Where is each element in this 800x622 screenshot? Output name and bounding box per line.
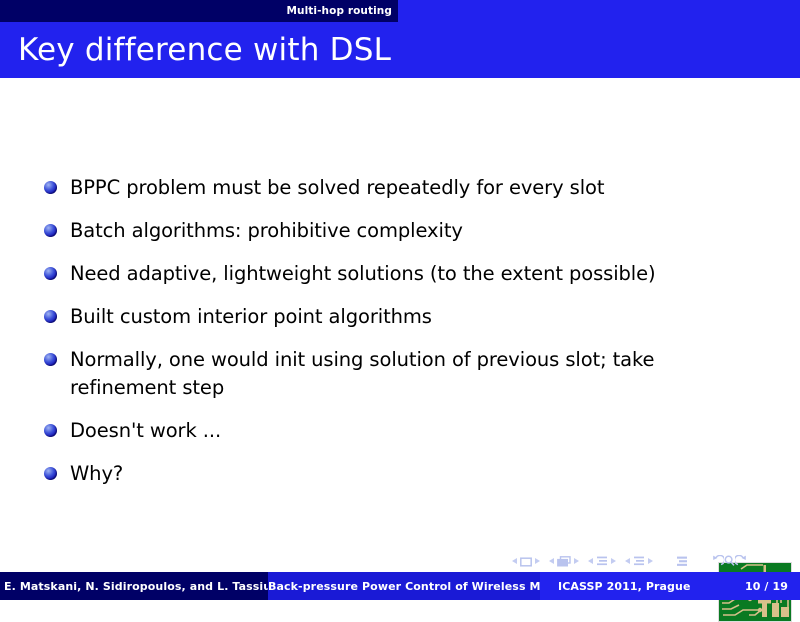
nav-group-subsection[interactable]: [588, 552, 616, 571]
footer-bar: E. Matskani, N. Sidiropoulos, and L. Tas…: [0, 572, 800, 600]
nav-group-slide[interactable]: [512, 552, 540, 571]
footer-title-label: Back-pressure Power Control of Wireless …: [268, 580, 540, 593]
footer-meta-segment[interactable]: ICASSP 2011, Prague 10 / 19: [540, 572, 800, 600]
next-frame-icon[interactable]: [574, 558, 579, 564]
back-icon[interactable]: [711, 552, 724, 571]
list-item-label: Need adaptive, lightweight solutions (to…: [70, 260, 724, 288]
list-item: Why?: [44, 460, 724, 488]
list-item-label: Built custom interior point algorithms: [70, 303, 724, 331]
next-section-icon[interactable]: [648, 558, 653, 564]
headline-bar: Multi-hop routing: [0, 0, 800, 22]
list-item-label: Why?: [70, 460, 724, 488]
forward-icon[interactable]: [735, 552, 748, 571]
nav-group-frame[interactable]: [549, 552, 579, 571]
slide-icon[interactable]: [520, 552, 532, 571]
title-band: Key difference with DSL: [0, 22, 800, 78]
list-item: Built custom interior point algorithms: [44, 303, 724, 331]
list-item: BPPC problem must be solved repeatedly f…: [44, 174, 724, 202]
slide-body: BPPC problem must be solved repeatedly f…: [0, 78, 800, 550]
bullet-sphere-icon: [44, 353, 57, 366]
next-slide-icon[interactable]: [535, 558, 540, 564]
footer-page-number: 10 / 19: [745, 580, 792, 593]
bullet-sphere-icon: [44, 467, 57, 480]
nav-group-section[interactable]: [625, 552, 653, 571]
subsection-icon[interactable]: [596, 552, 608, 571]
prev-slide-icon[interactable]: [512, 558, 517, 564]
footer-author-segment[interactable]: E. Matskani, N. Sidiropoulos, and L. Tas…: [0, 572, 268, 600]
nav-group-history[interactable]: [711, 552, 748, 571]
prev-frame-icon[interactable]: [549, 558, 554, 564]
list-item-label: Batch algorithms: prohibitive complexity: [70, 217, 724, 245]
bullet-sphere-icon: [44, 267, 57, 280]
list-item-label: Doesn't work ...: [70, 417, 724, 445]
bullet-sphere-icon: [44, 310, 57, 323]
list-item-label: BPPC problem must be solved repeatedly f…: [70, 174, 724, 202]
frame-icon[interactable]: [557, 552, 571, 571]
list-item: Doesn't work ...: [44, 417, 724, 445]
footer-venue-label: ICASSP 2011, Prague: [558, 580, 691, 593]
page-title: Key difference with DSL: [0, 32, 391, 68]
bullet-list: BPPC problem must be solved repeatedly f…: [44, 174, 724, 488]
presentation-icon[interactable]: [676, 552, 688, 571]
section-label: Multi-hop routing: [286, 5, 392, 17]
section-icon[interactable]: [633, 552, 645, 571]
bullet-sphere-icon: [44, 181, 57, 194]
list-item: Batch algorithms: prohibitive complexity: [44, 217, 724, 245]
next-subsection-icon[interactable]: [611, 558, 616, 564]
prev-section-icon[interactable]: [625, 558, 630, 564]
bullet-sphere-icon: [44, 224, 57, 237]
footer-title-segment[interactable]: Back-pressure Power Control of Wireless …: [268, 572, 540, 600]
section-indicator[interactable]: Multi-hop routing: [0, 0, 398, 22]
beamer-navigation-symbols[interactable]: [512, 553, 757, 569]
footer-author-label: E. Matskani, N. Sidiropoulos, and L. Tas…: [4, 580, 268, 593]
prev-subsection-icon[interactable]: [588, 558, 593, 564]
nav-group-presentation[interactable]: [676, 552, 688, 571]
list-item-label: Normally, one would init using solution …: [70, 346, 724, 402]
list-item: Normally, one would init using solution …: [44, 346, 724, 402]
search-icon[interactable]: [724, 552, 735, 571]
list-item: Need adaptive, lightweight solutions (to…: [44, 260, 724, 288]
bullet-sphere-icon: [44, 424, 57, 437]
